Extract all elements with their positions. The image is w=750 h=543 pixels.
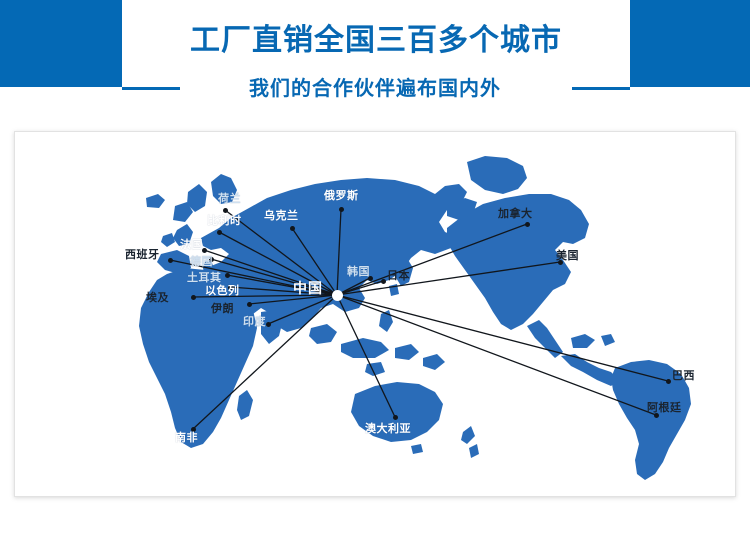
destination-label: 西班牙 [125,249,160,261]
destination-label: 以色列 [205,285,240,297]
page-title: 工厂直销全国三百多个城市 [122,22,630,60]
destination-label: 伊朗 [211,303,234,315]
destination-label: 比利时 [207,215,242,227]
destination-label: 阿根廷 [647,402,682,414]
destination-label: 荷兰 [218,193,241,205]
china-hub-label: 中国 [293,281,323,297]
destination-label: 日本 [387,270,410,282]
destination-label: 韩国 [347,266,370,278]
destination-label: 印度 [243,316,266,328]
destination-marker[interactable] [290,226,295,231]
world-map-panel: 荷兰比利时法国德国西班牙土耳其以色列埃及伊朗印度乌克兰俄罗斯韩国日本加拿大美国巴… [14,131,736,497]
destination-label: 加拿大 [498,208,533,220]
destination-marker[interactable] [525,222,530,227]
destination-marker[interactable] [225,273,230,278]
destination-marker[interactable] [266,322,271,327]
destination-label: 法国 [180,239,203,251]
destination-marker[interactable] [247,302,252,307]
destination-marker[interactable] [666,379,671,384]
destination-label: 德国 [190,256,213,268]
destination-marker[interactable] [381,279,386,284]
destination-label: 俄罗斯 [324,190,359,202]
destination-marker[interactable] [168,258,173,263]
destination-label: 乌克兰 [264,210,299,222]
destination-label: 埃及 [146,292,169,304]
china-hub-marker[interactable] [332,290,343,301]
destination-marker[interactable] [393,415,398,420]
destination-marker[interactable] [223,208,228,213]
page-header: 工厂直销全国三百多个城市 我们的合作伙伴遍布国内外 [0,0,750,118]
destination-label: 南非 [175,432,198,444]
destination-label: 土耳其 [187,272,222,284]
world-map-landmasses [15,132,735,496]
destination-marker[interactable] [217,230,222,235]
destination-label: 美国 [556,250,579,262]
destination-label: 巴西 [672,370,695,382]
destination-label: 澳大利亚 [365,423,411,435]
world-map-stage: 荷兰比利时法国德国西班牙土耳其以色列埃及伊朗印度乌克兰俄罗斯韩国日本加拿大美国巴… [15,132,735,496]
page-subtitle: 我们的合作伙伴遍布国内外 [0,75,750,101]
destination-marker[interactable] [339,207,344,212]
destination-marker[interactable] [191,295,196,300]
